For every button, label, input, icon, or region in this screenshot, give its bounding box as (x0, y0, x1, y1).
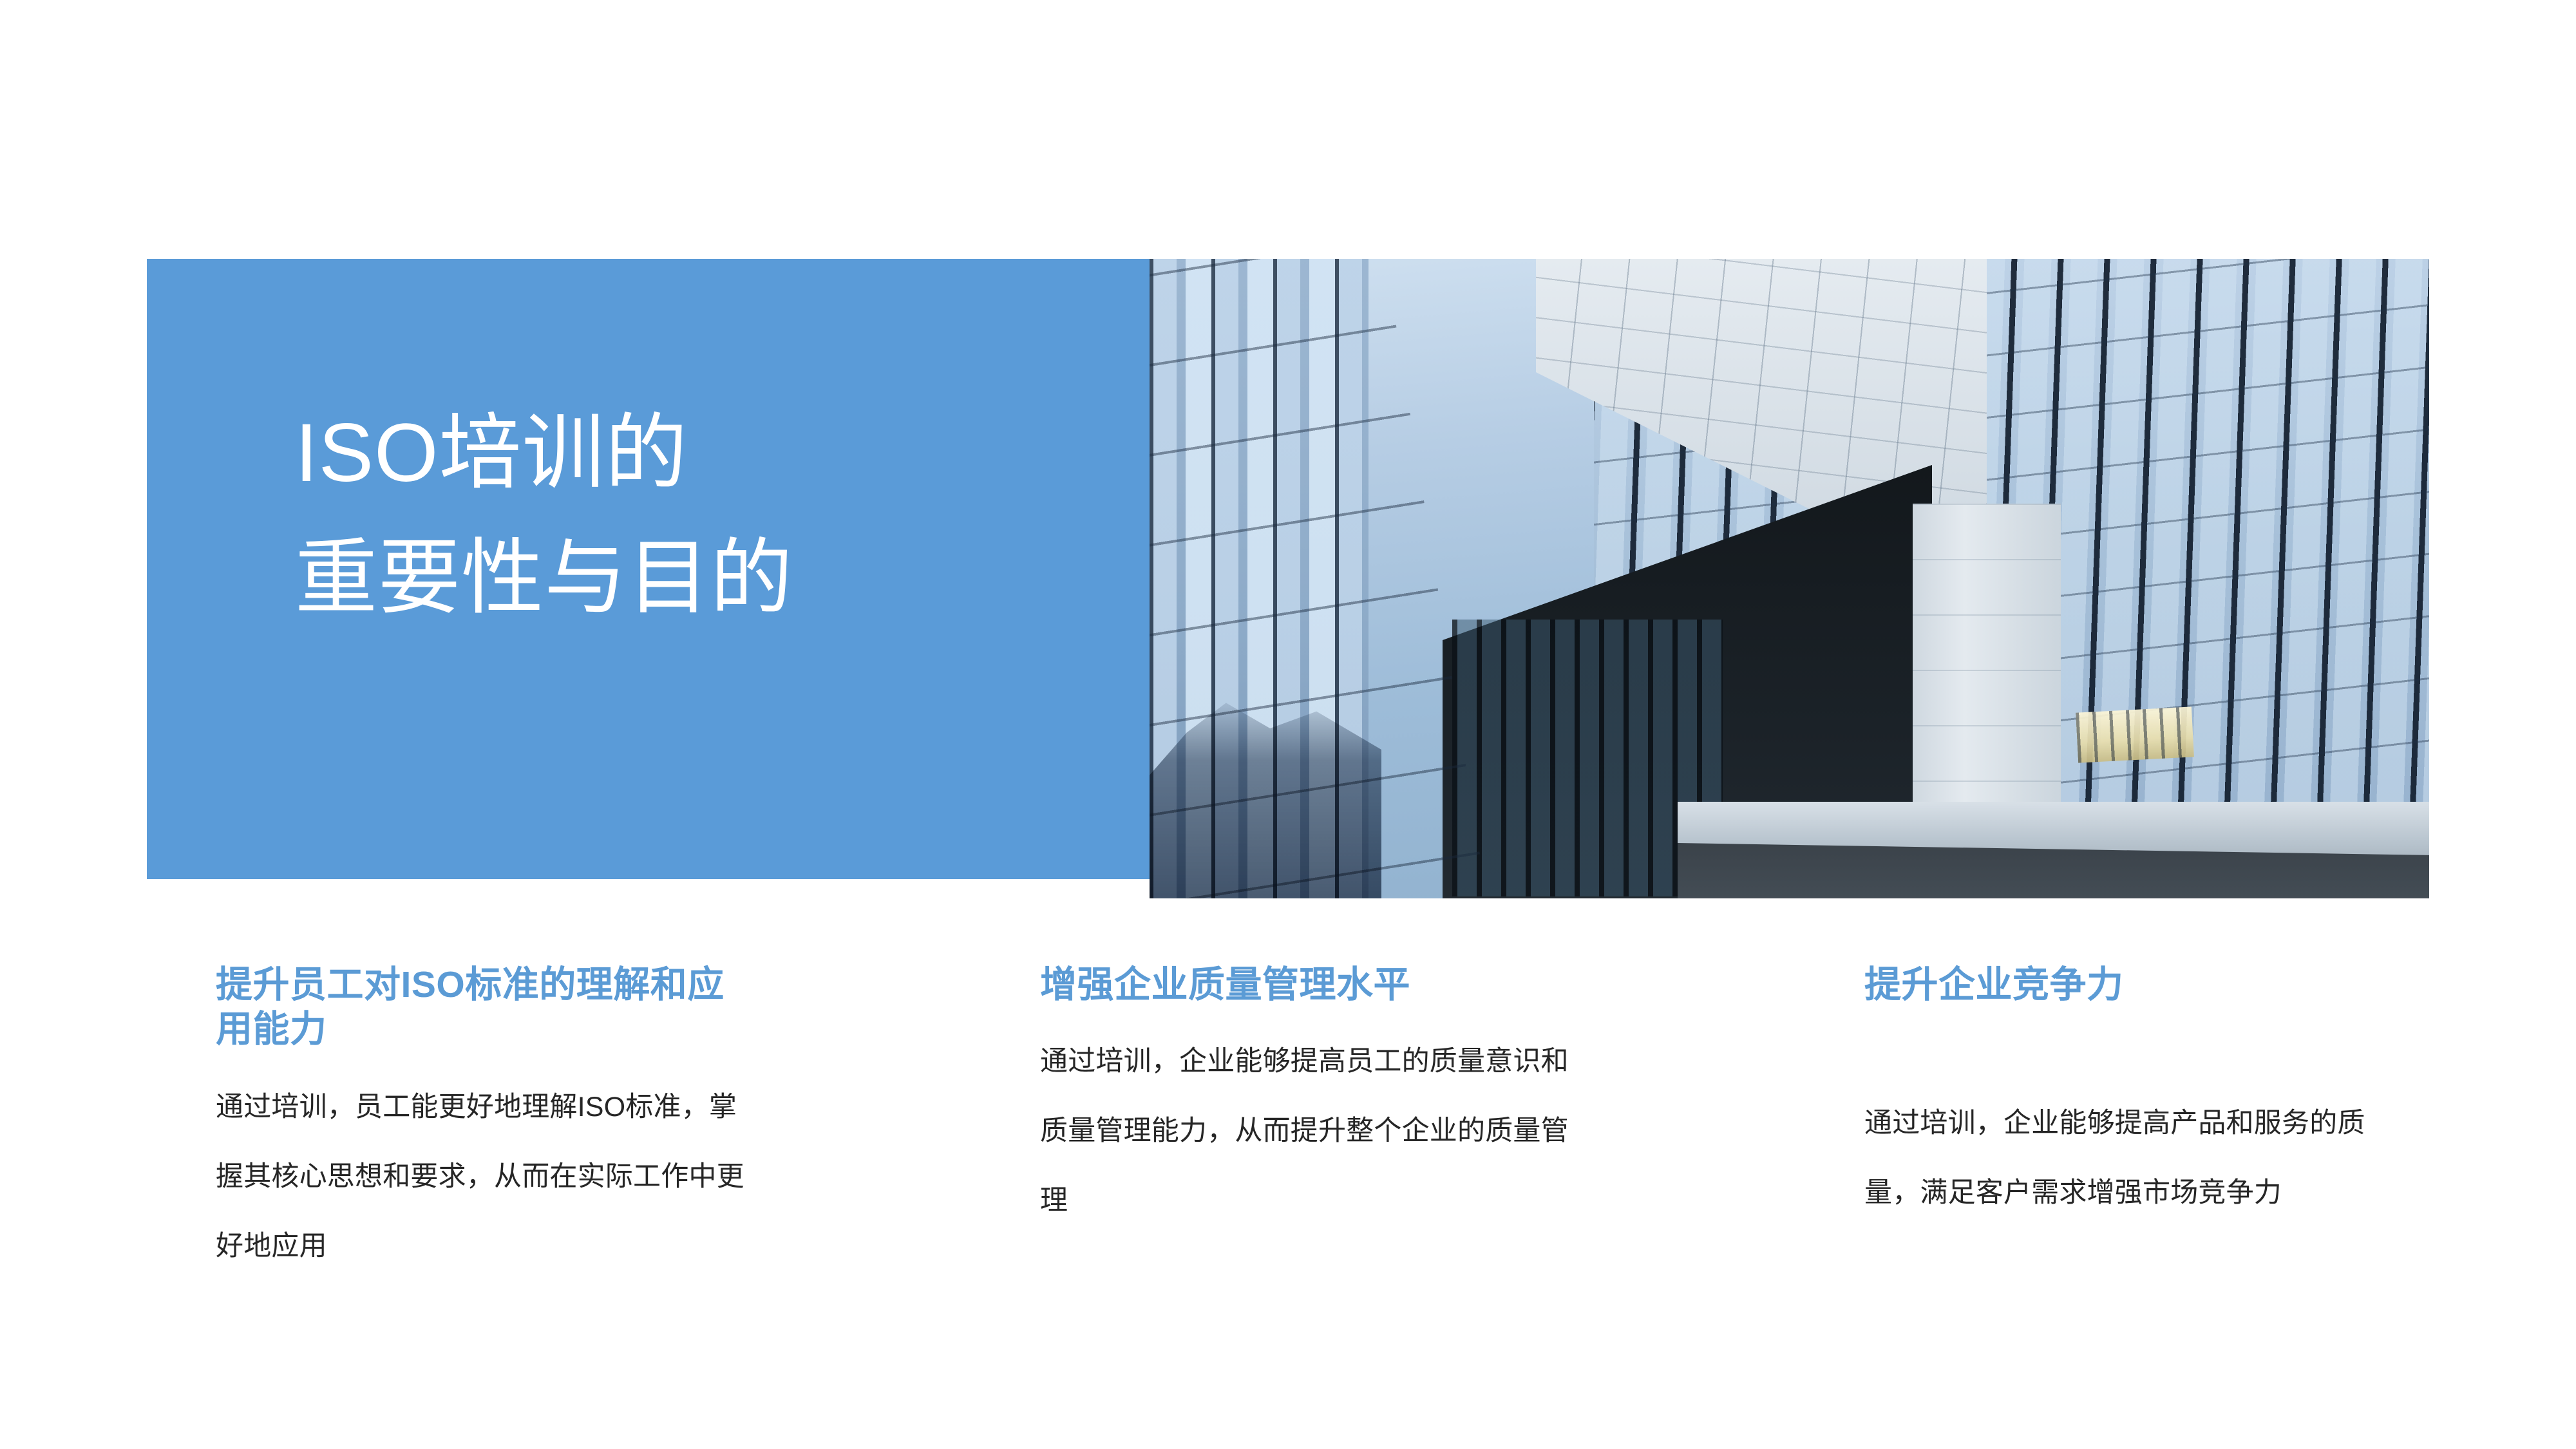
feature-body-1: 通过培训，员工能更好地理解ISO标准，掌握其核心思想和要求，从而在实际工作中更好… (216, 1072, 757, 1281)
lit-window-reflection (2076, 706, 2194, 762)
feature-column-3: 提升企业竞争力 通过培训，企业能够提高产品和服务的质量，满足客户需求增强市场竞争… (1864, 963, 2405, 1281)
feature-heading-3: 提升企业竞争力 (1864, 963, 2405, 1007)
feature-heading-2: 增强企业质量管理水平 (1040, 963, 1581, 1007)
photo-canvas (1150, 259, 2429, 898)
hero-banner: ISO培训的 重要性与目的 (147, 259, 2429, 879)
feature-body-3: 通过培训，企业能够提高产品和服务的质量，满足客户需求增强市场竞争力 (1864, 1088, 2405, 1227)
slide-title: ISO培训的 重要性与目的 (295, 408, 1132, 623)
feature-column-2: 增强企业质量管理水平 通过培训，企业能够提高员工的质量意识和质量管理能力，从而提… (1040, 963, 1581, 1281)
feature-column-1: 提升员工对ISO标准的理解和应用能力 通过培训，员工能更好地理解ISO标准，掌握… (216, 963, 757, 1281)
title-line-2: 重要性与目的 (295, 533, 1132, 623)
feature-body-2: 通过培训，企业能够提高员工的质量意识和质量管理能力，从而提升整个企业的质量管理 (1040, 1027, 1581, 1235)
title-line-1: ISO培训的 (295, 408, 1132, 498)
feature-heading-1: 提升员工对ISO标准的理解和应用能力 (216, 963, 757, 1052)
building-photo (1150, 259, 2429, 898)
feature-columns: 提升员工对ISO标准的理解和应用能力 通过培训，员工能更好地理解ISO标准，掌握… (216, 963, 2405, 1281)
title-panel: ISO培训的 重要性与目的 (147, 259, 1150, 879)
